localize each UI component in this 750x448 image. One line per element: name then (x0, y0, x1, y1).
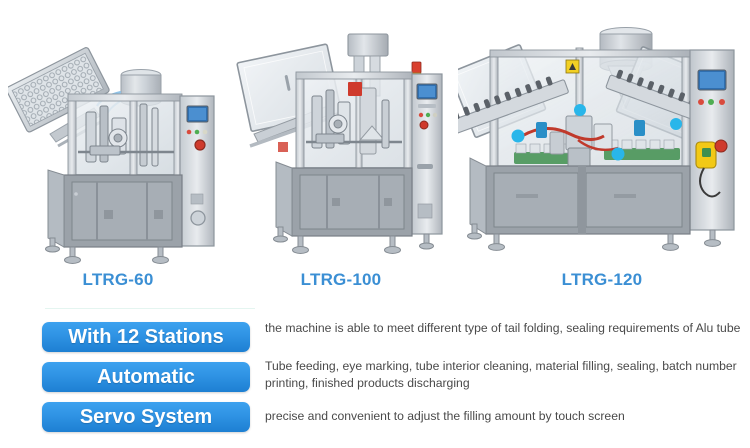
feature-row-stations: With 12 Stations the machine is able to … (0, 318, 750, 358)
feature-badge-automatic[interactable]: Automatic (42, 362, 250, 392)
product-gallery: LTRG-60 (0, 0, 750, 300)
product-card-ltrg-60[interactable]: LTRG-60 (8, 42, 228, 267)
model-label-ltrg-120: LTRG-120 (458, 270, 746, 290)
indicator-light-green (195, 130, 200, 135)
machine-image-ltrg-120 (458, 12, 746, 267)
product-card-ltrg-120[interactable]: LTRG-120 (458, 12, 746, 267)
feature-badge-servo[interactable]: Servo System (42, 402, 250, 432)
indicator-light-white (203, 130, 208, 135)
warning-label (348, 82, 362, 96)
feature-badge-stations[interactable]: With 12 Stations (42, 322, 250, 352)
model-label-ltrg-100: LTRG-100 (232, 270, 450, 290)
feature-row-automatic: Automatic Tube feeding, eye marking, tub… (0, 358, 750, 398)
drive-motor-housing (348, 34, 388, 56)
emergency-stop-button[interactable] (420, 121, 428, 129)
feature-list: With 12 Stations the machine is able to … (0, 318, 750, 438)
indicator-light-green (708, 99, 714, 105)
indicator-light-red-2 (719, 99, 725, 105)
product-feature-banner: LTRG-60 (0, 0, 750, 448)
emergency-stop-button[interactable] (195, 140, 205, 150)
machine-image-ltrg-60 (8, 42, 228, 267)
indicator-light-red (187, 130, 192, 135)
feature-description-stations: the machine is able to meet different ty… (265, 320, 742, 337)
feature-row-servo: Servo System precise and convenient to a… (0, 398, 750, 438)
model-label-ltrg-60: LTRG-60 (8, 270, 228, 290)
emergency-stop-button[interactable] (715, 140, 727, 152)
feature-description-automatic: Tube feeding, eye marking, tube interior… (265, 358, 742, 393)
section-divider (45, 308, 255, 309)
feature-description-servo: precise and convenient to adjust the fil… (265, 408, 742, 425)
product-card-ltrg-100[interactable]: LTRG-100 (232, 22, 450, 267)
indicator-light-red (698, 99, 704, 105)
machine-image-ltrg-100 (232, 22, 450, 267)
